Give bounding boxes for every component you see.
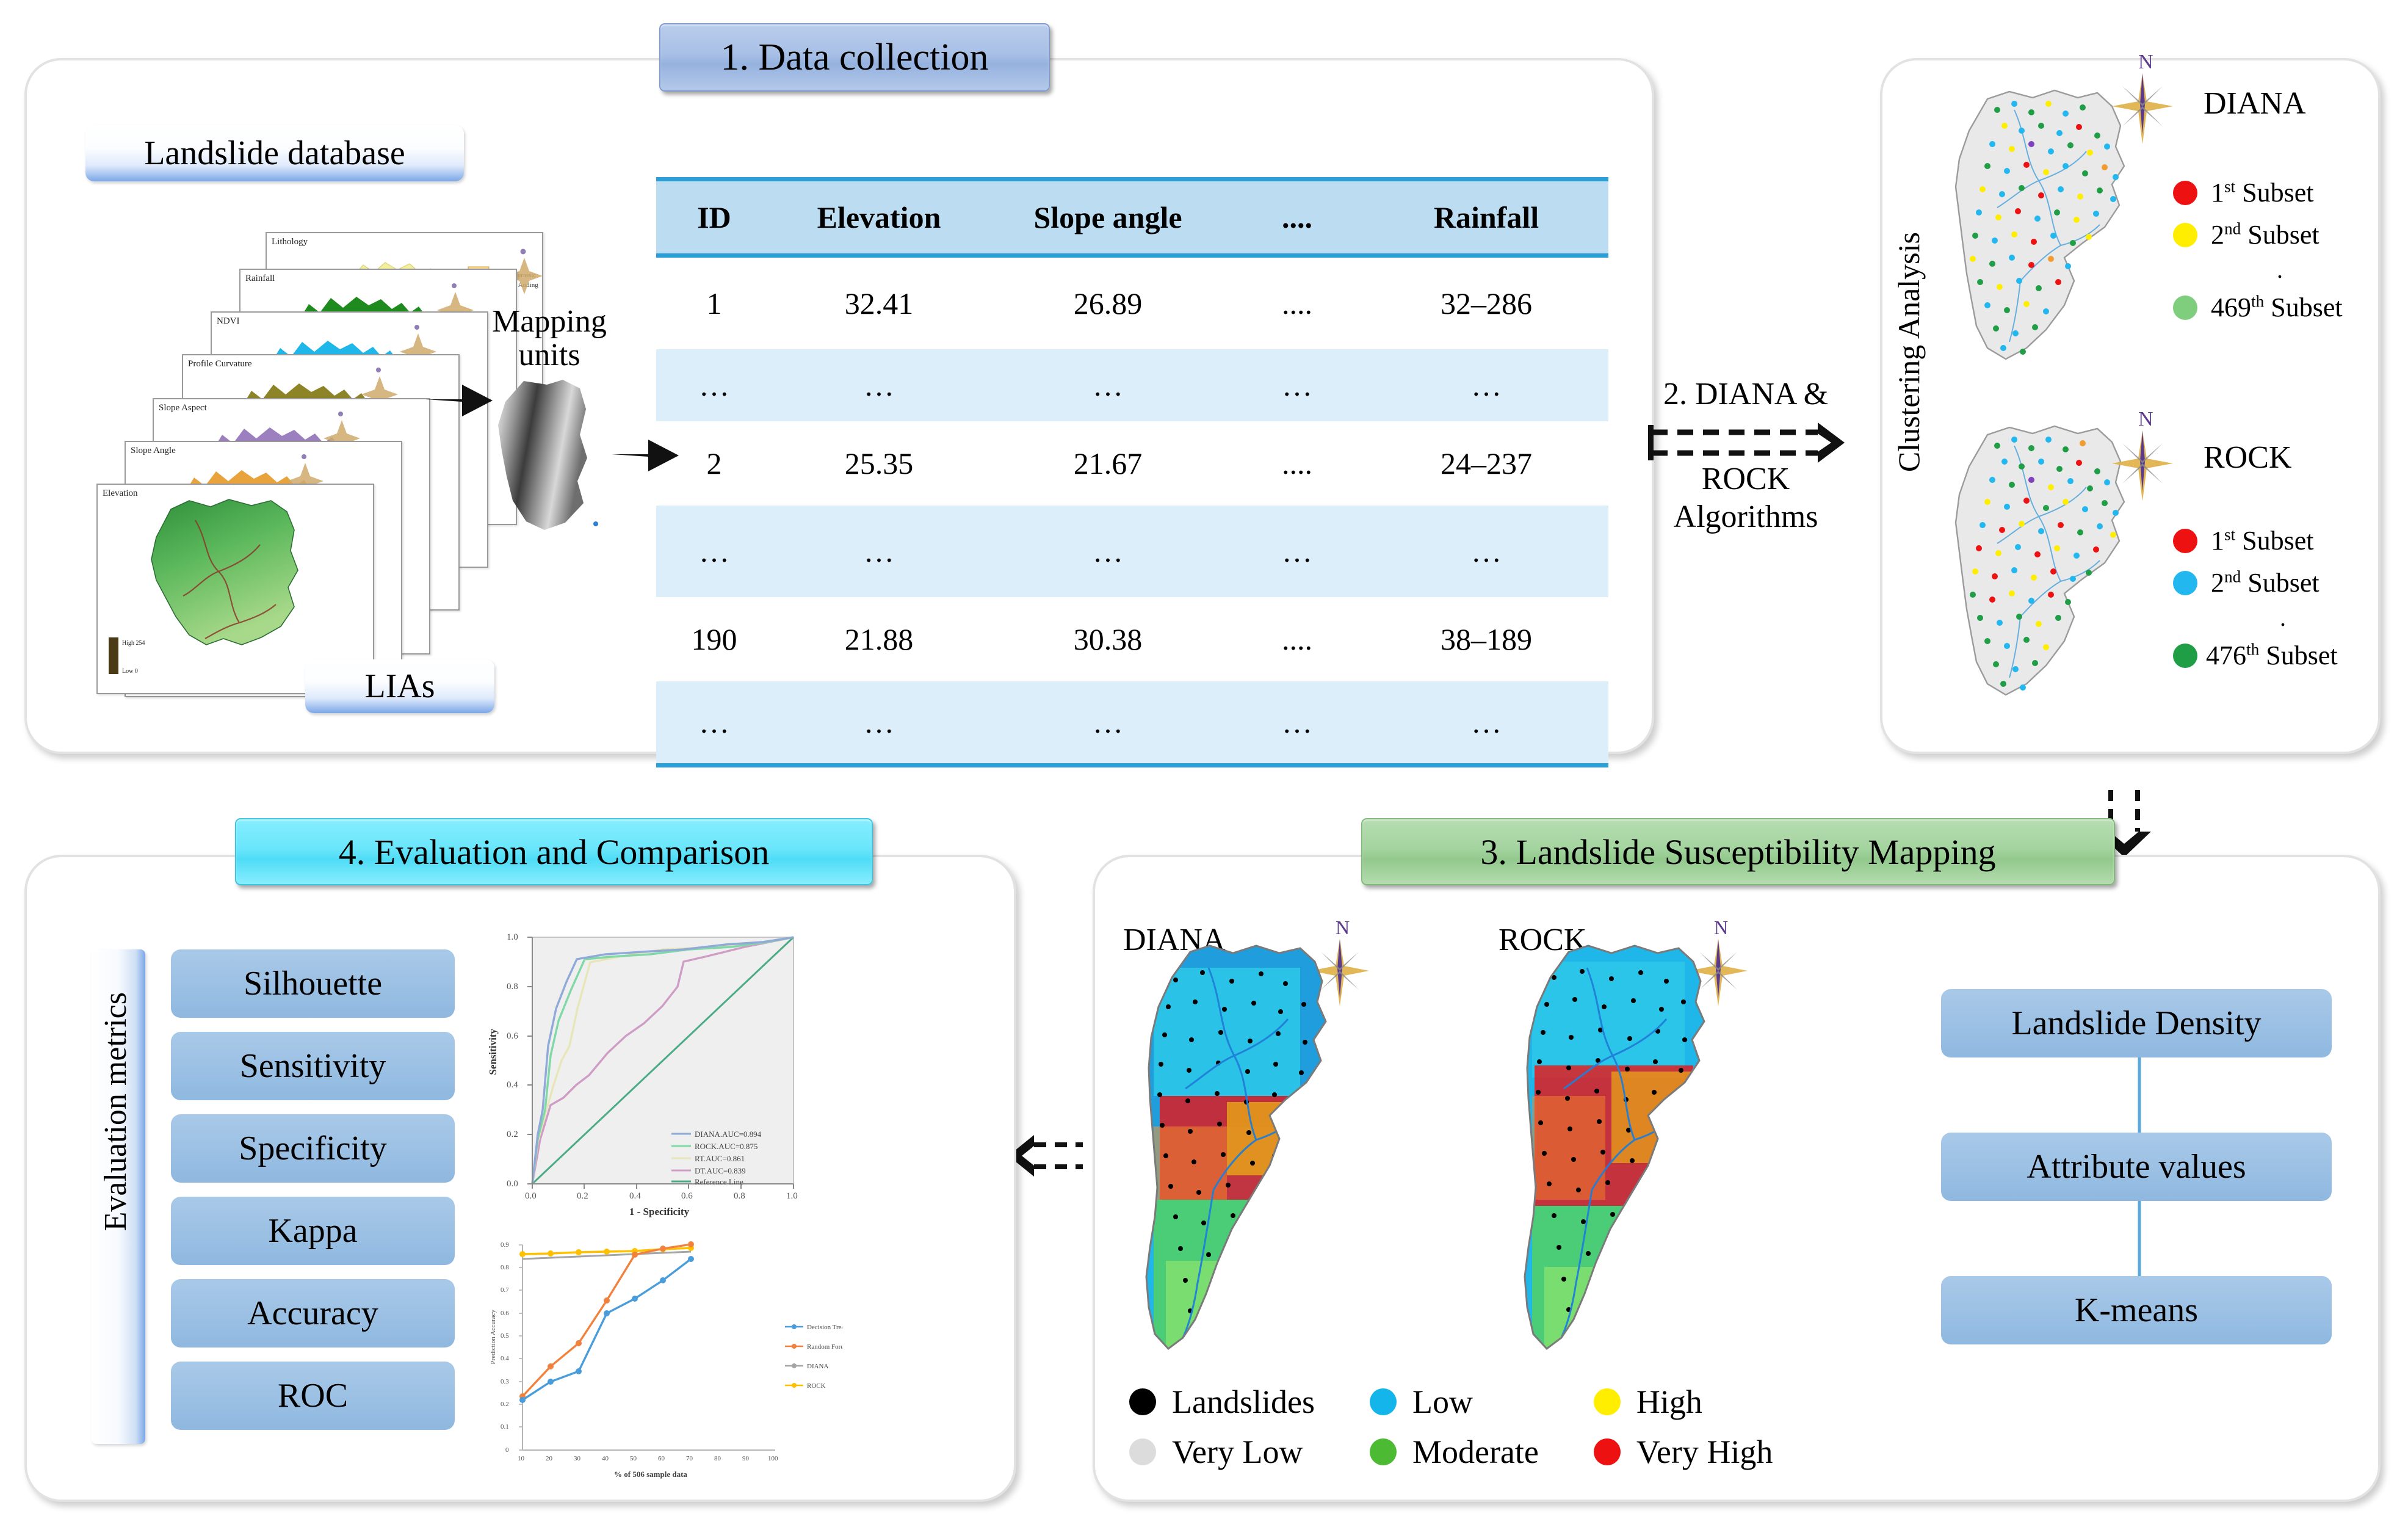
- table-cell: …: [1230, 349, 1364, 421]
- legend-swatch: [2173, 296, 2197, 320]
- svg-text:High 254: High 254: [122, 640, 145, 647]
- table-cell: …: [986, 349, 1230, 421]
- metric-box-accuracy[interactable]: Accuracy: [171, 1279, 455, 1347]
- table-cell: 1: [656, 256, 772, 350]
- legend-label: 2nd Subset: [2211, 219, 2319, 250]
- accuracy-chart: Prediction Accuracy: [488, 1236, 842, 1493]
- table-cell: 190: [656, 597, 772, 681]
- legend-label: 469th Subset: [2211, 292, 2343, 323]
- lsm-flow-box-attribute-values[interactable]: Attribute values: [1941, 1133, 2332, 1201]
- legend-swatch: [1370, 1388, 1397, 1415]
- table-cell: …: [986, 681, 1230, 766]
- metric-box-kappa[interactable]: Kappa: [171, 1197, 455, 1265]
- accuracy-x-tick: 10: [518, 1455, 524, 1462]
- legend-item: 476th Subset: [2173, 640, 2393, 671]
- table-row: 2 25.35 21.67 .... 24–237: [656, 421, 1608, 506]
- accuracy-y-tick: 0.8: [501, 1264, 509, 1271]
- stage-2-line-1: 2. DIANA &: [1648, 375, 1843, 413]
- table-cell: …: [1364, 681, 1608, 766]
- table-row: 1 32.41 26.89 .... 32–286: [656, 256, 1608, 350]
- accuracy-y-tick: 0.9: [501, 1241, 509, 1249]
- svg-text:Low 0: Low 0: [122, 668, 138, 675]
- table-cell: ....: [1230, 421, 1364, 506]
- table-cell: 21.67: [986, 421, 1230, 506]
- accuracy-legend-label-2: DIANA: [807, 1363, 828, 1370]
- legend-item: Moderate: [1370, 1433, 1539, 1471]
- accuracy-x-tick: 60: [658, 1455, 665, 1462]
- metric-box-sensitivity[interactable]: Sensitivity: [171, 1032, 455, 1100]
- stage-4-title[interactable]: 4. Evaluation and Comparison: [235, 818, 873, 885]
- roc-y-tick: 0.2: [507, 1130, 518, 1140]
- legend-label: Very High: [1636, 1433, 1773, 1471]
- legend-label: 1st Subset: [2211, 177, 2314, 208]
- mapping-units-raster: [488, 379, 610, 537]
- roc-x-tick: 0.4: [629, 1191, 641, 1202]
- table-header-cell: Slope angle: [986, 180, 1230, 256]
- roc-x-tick: 0.0: [525, 1191, 537, 1202]
- cluster-legend-diana: 1st Subset 2nd Subset . 469th Subset: [2173, 177, 2387, 323]
- legend-item: 2nd Subset: [2173, 219, 2387, 250]
- roc-x-axis-label: 1 - Specificity: [488, 1206, 830, 1218]
- arrow-stage-1-to-stage-2: [1648, 421, 1849, 470]
- legend-label: 476th Subset: [2206, 640, 2338, 671]
- raster-layer-stack: Lithology Middle Jurassic Strata of Andi…: [104, 232, 555, 696]
- legend-ellipsis: .: [2173, 598, 2393, 640]
- legend-item: Very Low: [1129, 1433, 1315, 1471]
- clustering-analysis-axis-label: Clustering Analysis: [1891, 232, 1926, 472]
- legend-swatch: [2173, 181, 2197, 205]
- legend-swatch: [2173, 223, 2197, 247]
- roc-x-tick: 0.2: [577, 1191, 588, 1202]
- evaluation-metrics-axis-label: Evaluation metrics: [98, 992, 134, 1231]
- table-cell: …: [656, 349, 772, 421]
- attribute-table: ID Elevation Slope angle .... Rainfall 1…: [656, 177, 1608, 767]
- legend-swatch: [2173, 571, 2197, 595]
- table-cell: 32.41: [772, 256, 986, 350]
- accuracy-y-tick: 0.4: [501, 1355, 509, 1362]
- legend-item: 469th Subset: [2173, 292, 2387, 323]
- accuracy-y-tick: 0.5: [501, 1332, 509, 1340]
- table-cell: …: [772, 349, 986, 421]
- roc-legend-label-3: DT.AUC=0.839: [695, 1166, 746, 1175]
- cluster-legend-rock: 1st Subset 2nd Subset . 476th Subset: [2173, 525, 2393, 671]
- mapping-units-line2: units: [470, 339, 629, 372]
- accuracy-y-tick: 0.3: [501, 1378, 509, 1385]
- table-cell: …: [656, 681, 772, 766]
- table-cell: 2: [656, 421, 772, 506]
- legend-swatch: [2173, 529, 2197, 553]
- accuracy-legend-label-0: Decision Tree: [807, 1324, 842, 1331]
- accuracy-y-tick: 0.1: [501, 1423, 509, 1431]
- accuracy-y-tick: 0.7: [501, 1286, 509, 1294]
- accuracy-x-tick: 100: [768, 1455, 778, 1462]
- legend-item: 1st Subset: [2173, 177, 2387, 208]
- legend-item: Landslides: [1129, 1383, 1315, 1421]
- lsm-flow-box-k-means[interactable]: K-means: [1941, 1276, 2332, 1344]
- legend-label: High: [1636, 1383, 1702, 1421]
- accuracy-y-tick: 0: [505, 1446, 509, 1454]
- table-cell: …: [1364, 349, 1608, 421]
- table-row: … … … … …: [656, 681, 1608, 766]
- legend-label: 2nd Subset: [2211, 567, 2319, 598]
- legend-label: 1st Subset: [2211, 525, 2314, 556]
- roc-legend-label-2: RT.AUC=0.861: [695, 1154, 745, 1163]
- table-cell: …: [656, 506, 772, 597]
- lsm-map-diana: [1117, 943, 1392, 1365]
- table-cell: …: [1230, 681, 1364, 766]
- accuracy-x-tick: 40: [602, 1455, 609, 1462]
- roc-legend-label-0: DIANA.AUC=0.894: [695, 1130, 762, 1139]
- accuracy-legend-label-3: ROCK: [807, 1382, 826, 1390]
- lsm-map-rock: [1495, 943, 1770, 1365]
- legend-item: High: [1594, 1383, 1773, 1421]
- accuracy-x-axis-label: % of 506 sample data: [522, 1470, 779, 1479]
- roc-x-tick: 0.6: [681, 1191, 693, 1202]
- legend-item: 1st Subset: [2173, 525, 2393, 556]
- arrow-lsm-to-evaluation: [1007, 1133, 1086, 1188]
- roc-legend-label-4: Reference Line: [695, 1177, 743, 1186]
- legend-swatch: [1594, 1438, 1621, 1465]
- roc-y-tick: 0.8: [507, 982, 518, 992]
- accuracy-x-tick: 70: [686, 1455, 693, 1462]
- table-cell: …: [1364, 506, 1608, 597]
- table-row: 190 21.88 30.38 .... 38–189: [656, 597, 1608, 681]
- roc-y-tick: 0.0: [507, 1179, 518, 1189]
- landslide-database-label: Landslide database: [85, 125, 464, 181]
- accuracy-y-tick: 0.6: [501, 1310, 509, 1317]
- lsm-flow-box-landslide-density[interactable]: Landslide Density: [1941, 989, 2332, 1057]
- accuracy-x-tick: 80: [714, 1455, 721, 1462]
- legend-label: Low: [1412, 1383, 1473, 1421]
- roc-y-tick: 1.0: [507, 932, 518, 943]
- table-cell: 26.89: [986, 256, 1230, 350]
- legend-swatch: [1594, 1388, 1621, 1415]
- accuracy-x-tick: 90: [742, 1455, 749, 1462]
- legend-swatch: [2173, 644, 2197, 668]
- metric-box-roc[interactable]: ROC: [171, 1362, 455, 1430]
- roc-chart: Sensitivity DIANA.AUC=0.894 ROCK.AUC=0.: [488, 919, 830, 1230]
- compass-rose-rock: N: [2109, 400, 2176, 510]
- mapping-units-line1: Mapping: [470, 305, 629, 339]
- roc-y-tick: 0.6: [507, 1031, 518, 1042]
- table-header-cell: Elevation: [772, 180, 986, 256]
- table-row: … … … … …: [656, 506, 1608, 597]
- accuracy-legend-label-1: Random Forest: [807, 1343, 842, 1351]
- mapping-units-label: Mapping units: [470, 305, 629, 372]
- roc-x-tick: 1.0: [786, 1191, 798, 1202]
- table-cell: …: [986, 506, 1230, 597]
- table-header-cell: Rainfall: [1364, 180, 1608, 256]
- accuracy-x-tick: 50: [630, 1455, 637, 1462]
- cluster-map-title-diana: DIANA: [2204, 85, 2306, 122]
- legend-swatch: [1370, 1438, 1397, 1465]
- table-cell: 38–189: [1364, 597, 1608, 681]
- table-cell: ....: [1230, 597, 1364, 681]
- legend-swatch: [1129, 1388, 1156, 1415]
- table-cell: 21.88: [772, 597, 986, 681]
- legend-label: Landslides: [1172, 1383, 1315, 1421]
- svg-text:N: N: [2138, 408, 2153, 430]
- table-cell: ....: [1230, 256, 1364, 350]
- compass-rose-diana: N: [2109, 43, 2176, 153]
- svg-text:N: N: [1336, 916, 1350, 938]
- legend-swatch: [1129, 1438, 1156, 1465]
- stage-2-line-3: Algorithms: [1648, 498, 1843, 535]
- arrow-layers-to-mapping-units: [424, 372, 494, 427]
- table-cell: 30.38: [986, 597, 1230, 681]
- svg-text:N: N: [2138, 51, 2153, 73]
- lias-label: LIAs: [305, 659, 494, 713]
- table-row: … … … … …: [656, 349, 1608, 421]
- metric-box-silhouette[interactable]: Silhouette: [171, 949, 455, 1018]
- roc-y-tick: 0.4: [507, 1080, 518, 1090]
- legend-item: 2nd Subset: [2173, 567, 2393, 598]
- stage-1-title[interactable]: 1. Data collection: [659, 23, 1050, 92]
- table-cell: …: [772, 506, 986, 597]
- lsm-legend: Landslides Very Low Low Moderate High Ve…: [1129, 1383, 1959, 1471]
- legend-label: Moderate: [1412, 1433, 1539, 1471]
- table-header-row: ID Elevation Slope angle .... Rainfall: [656, 180, 1608, 256]
- legend-label: Very Low: [1172, 1433, 1303, 1471]
- roc-x-tick: 0.8: [734, 1191, 745, 1202]
- accuracy-y-tick: 0.2: [501, 1401, 509, 1408]
- legend-item: Low: [1370, 1383, 1539, 1421]
- roc-legend-label-1: ROCK.AUC=0.875: [695, 1142, 757, 1151]
- table-header-cell: ....: [1230, 180, 1364, 256]
- table-cell: 25.35: [772, 421, 986, 506]
- svg-text:N: N: [1714, 916, 1728, 938]
- table-header-cell: ID: [656, 180, 772, 256]
- legend-ellipsis: .: [2173, 250, 2387, 292]
- metric-box-specificity[interactable]: Specificity: [171, 1114, 455, 1183]
- table-cell: …: [1230, 506, 1364, 597]
- stage-3-title[interactable]: 3. Landslide Susceptibility Mapping: [1361, 818, 2115, 885]
- accuracy-x-tick: 30: [574, 1455, 580, 1462]
- table-cell: 32–286: [1364, 256, 1608, 350]
- table-cell: 24–237: [1364, 421, 1608, 506]
- table-cell: …: [772, 681, 986, 766]
- cluster-map-title-rock: ROCK: [2204, 440, 2291, 476]
- accuracy-x-tick: 20: [546, 1455, 552, 1462]
- legend-item: Very High: [1594, 1433, 1773, 1471]
